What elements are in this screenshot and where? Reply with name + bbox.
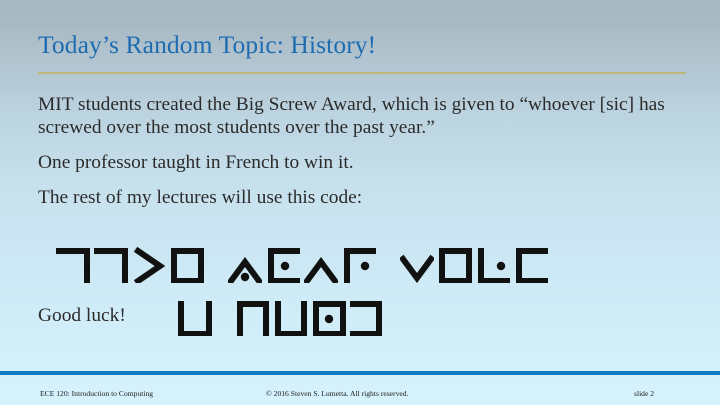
glyph-square-with-dot-icon bbox=[312, 298, 346, 336]
page-title: Today’s Random Topic: History! bbox=[38, 32, 686, 59]
glyph-bracket-left-icon bbox=[350, 298, 384, 336]
glyph-bracket-right-icon bbox=[514, 245, 548, 283]
presentation-slide: Today’s Random Topic: History! MIT stude… bbox=[0, 0, 720, 405]
good-luck-text: Good luck! bbox=[38, 305, 126, 327]
footer-slide-number: slide 2 bbox=[634, 389, 654, 398]
body-paragraph-2: One professor taught in French to win it… bbox=[38, 152, 678, 175]
cipher-code-line-1 bbox=[56, 245, 552, 283]
glyph-square-icon bbox=[170, 245, 204, 283]
cipher-code-area bbox=[38, 240, 686, 350]
glyph-chevron-right-icon bbox=[132, 245, 166, 283]
glyph-corner-bottom-right-icon bbox=[178, 298, 212, 336]
glyph-corner-top-right-icon bbox=[94, 245, 128, 283]
glyph-u-shape-icon bbox=[274, 298, 308, 336]
footer-copyright-label: © 2016 Steven S. Lumetta. All rights res… bbox=[266, 389, 408, 398]
cipher-code-line-2 bbox=[178, 298, 388, 336]
glyph-vee-down-icon bbox=[400, 245, 434, 283]
glyph-arch-up-icon bbox=[236, 298, 270, 336]
glyph-square-icon bbox=[438, 245, 472, 283]
body-content: MIT students created the Big Screw Award… bbox=[38, 94, 678, 221]
glyph-corner-top-right-icon bbox=[56, 245, 90, 283]
footer-course-label: ECE 120: Introduction to Computing bbox=[40, 389, 153, 398]
glyph-bracket-right-with-dot-icon bbox=[266, 245, 300, 283]
footer-accent-bar bbox=[0, 371, 720, 375]
body-paragraph-1: MIT students created the Big Screw Award… bbox=[38, 94, 678, 139]
glyph-corner-top-left-with-dot-icon bbox=[342, 245, 376, 283]
slide-footer: ECE 120: Introduction to Computing © 201… bbox=[0, 380, 720, 405]
glyph-corner-bottom-left-with-dot-icon bbox=[476, 245, 510, 283]
title-block: Today’s Random Topic: History! bbox=[38, 32, 686, 59]
body-paragraph-3: The rest of my lectures will use this co… bbox=[38, 187, 678, 210]
glyph-caret-up-with-dot-icon bbox=[228, 245, 262, 283]
title-underline-rule bbox=[38, 72, 686, 74]
glyph-caret-up-icon bbox=[304, 245, 338, 283]
